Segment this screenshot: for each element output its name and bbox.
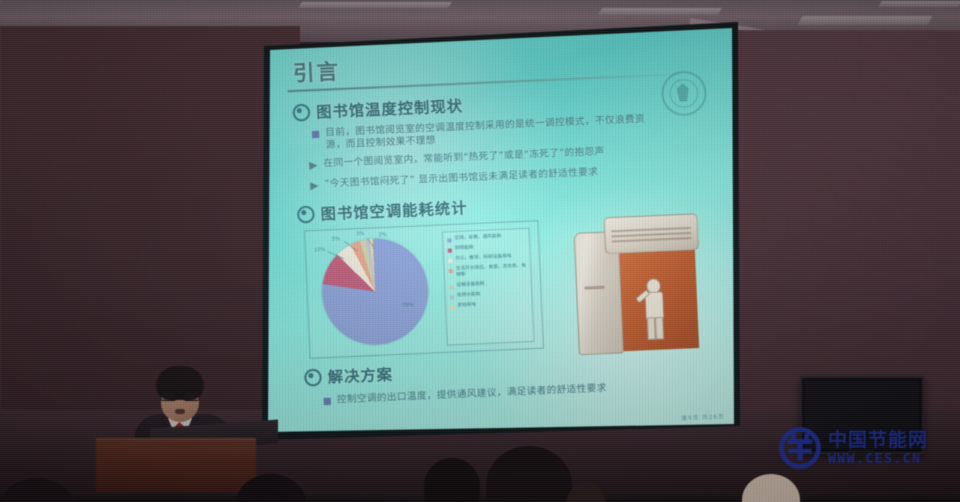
slide-heading-2: 图书馆空调能耗统计 [297, 197, 468, 226]
legend-item: 空调、采暖、通风能耗 [447, 233, 525, 242]
ac-louver [612, 232, 692, 237]
legend-swatch [448, 249, 452, 253]
legend-label: 运输设备能耗 [456, 282, 484, 289]
square-bullet-icon [312, 131, 319, 138]
slide-title: 引言 [292, 55, 340, 88]
pie-label: 5% [332, 236, 340, 242]
legend-swatch [449, 285, 453, 289]
ceiling-light [798, 16, 933, 25]
eyeglasses-icon [160, 390, 200, 399]
pie-label: 3% [356, 231, 364, 237]
bullet-target-icon [304, 369, 322, 387]
heading-label: 图书馆温度控制现状 [316, 95, 464, 123]
slide-footer: 第9页 共26页 [681, 412, 724, 422]
watermark: 中国节能网 WWW.CES.CN [778, 426, 928, 470]
heading-label: 解决方案 [327, 363, 393, 387]
legend-item: 办公、教学、科研设备用电 [448, 253, 526, 262]
legend-swatch [450, 306, 454, 310]
bullet-target-icon [297, 206, 315, 224]
legend-label: 空调、采暖、通风能耗 [454, 234, 501, 242]
wall-mounted-ac-unit-icon [604, 213, 699, 254]
legend-item: 生活开水供应、食堂、洗衣房、电梯等 [449, 264, 527, 280]
heading-label: 图书馆空调能耗统计 [320, 197, 468, 225]
legend-item: 运输设备能耗 [449, 280, 527, 289]
ac-louver [612, 237, 692, 242]
air-conditioner-illustration [569, 209, 710, 358]
arrow-bullet-icon [310, 182, 319, 191]
presenter-mouth [175, 409, 185, 414]
bullet-text: “今天图书馆闷死了” 显示出图书馆远未满足读者的舒适性要求 [324, 167, 598, 191]
pie-slices [320, 236, 431, 347]
legend-label: 给排水能耗 [457, 292, 481, 299]
legend-label: 办公、教学、科研设备用电 [455, 254, 511, 263]
figure-leg [655, 317, 664, 340]
chart-legend: 空调、采暖、通风能耗照明能耗办公、教学、科研设备用电生活开水供应、食堂、洗衣房、… [442, 228, 535, 346]
presentation-photo: 引言 图书馆温度控制现状 目前，图书馆阅览室的空调温度控制采用的是统一调控模式，… [0, 0, 960, 502]
watermark-site-name: 中国节能网 [828, 431, 928, 450]
slide-heading-3: 解决方案 [304, 363, 394, 388]
legend-label: 生活开水供应、食堂、洗衣房、电梯等 [456, 264, 527, 279]
legend-swatch [448, 259, 452, 263]
ces-circular-logo-icon [778, 426, 822, 470]
pie-label: 2% [379, 232, 387, 238]
ceiling-light [598, 8, 722, 15]
legend-swatch [450, 295, 454, 299]
legend-label: 照明能耗 [455, 246, 474, 253]
person-figure-icon [639, 278, 668, 340]
ceiling-light [298, 2, 452, 8]
legend-swatch [447, 238, 451, 242]
legend-item: 给排水能耗 [450, 290, 528, 299]
ac-louver [611, 227, 691, 232]
legend-swatch [449, 269, 453, 273]
watermark-text: 中国节能网 WWW.CES.CN [828, 431, 928, 466]
university-seal-icon [661, 70, 708, 117]
title-underline [288, 72, 696, 92]
slide-bullet: “今天图书馆闷死了” 显示出图书馆远未满足读者的舒适性要求 [310, 167, 598, 192]
pie-chart: 78% 10% 5% 3% 2% [320, 236, 431, 347]
legend-item: 照明能耗 [448, 243, 526, 252]
arrow-bullet-icon [309, 161, 318, 170]
projection-screen: 引言 图书馆温度控制现状 目前，图书馆阅览室的空调温度控制采用的是统一调控模式，… [268, 26, 734, 432]
slide-heading-1: 图书馆温度控制现状 [292, 95, 463, 124]
ceiling-light [878, 1, 960, 7]
square-bullet-icon [324, 398, 331, 405]
legend-item: 其他用电 [450, 300, 528, 309]
energy-chart-container: 78% 10% 5% 3% 2% 空调、采暖、通风能耗照明能耗办公、教学、科研设… [304, 220, 544, 359]
pie-label: 78% [402, 302, 414, 309]
legend-label: 其他用电 [457, 303, 476, 310]
bullet-text: 控制空调的出口温度，提供通风建议，满足读者的舒适性要求 [337, 383, 607, 407]
bullet-target-icon [292, 104, 310, 122]
slide-bullet: 控制空调的出口温度，提供通风建议，满足读者的舒适性要求 [323, 383, 606, 408]
pie-label: 10% [314, 247, 326, 254]
audience-row-bar [0, 492, 960, 502]
watermark-url: WWW.CES.CN [828, 453, 928, 466]
slide-content: 引言 图书馆温度控制现状 目前，图书馆阅览室的空调温度控制采用的是统一调控模式，… [268, 26, 734, 432]
